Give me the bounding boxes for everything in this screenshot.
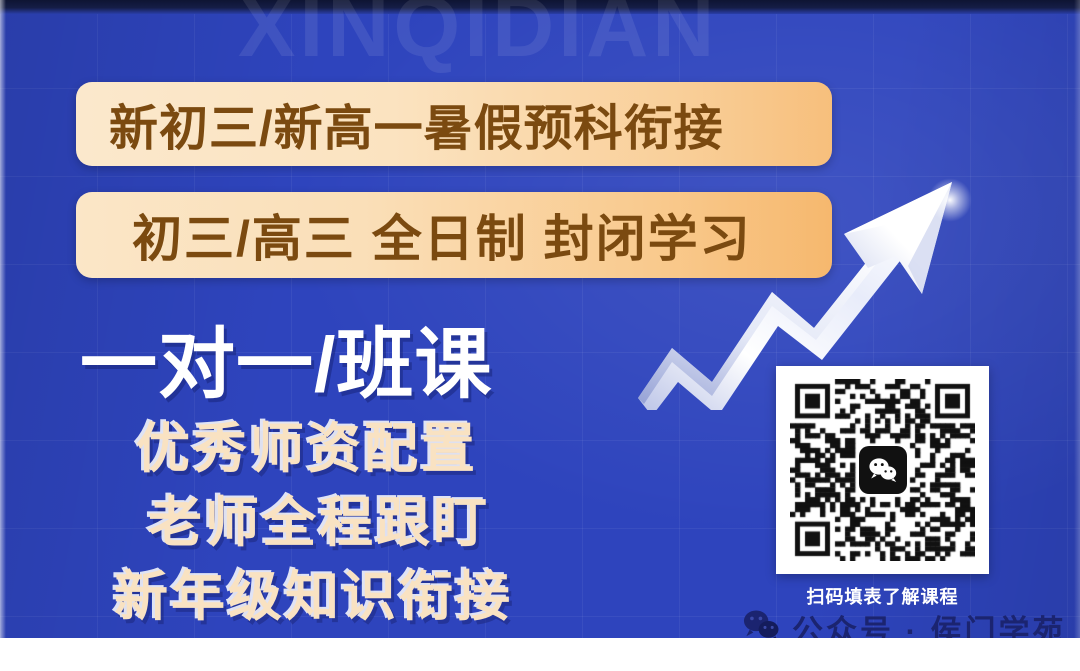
- banner-pill-primary: 新初三/新高一暑假预科衔接: [76, 82, 832, 166]
- top-edge-band: [0, 0, 1080, 14]
- bottom-white-strip: [0, 638, 1080, 671]
- left-page-edge: [0, 0, 6, 638]
- sparkle-icon: [928, 178, 972, 222]
- feature-line-3: 新年级知识衔接: [114, 552, 513, 631]
- banner-pill-primary-label: 新初三/新高一暑假预科衔接: [109, 89, 724, 160]
- right-page-edge: [1074, 0, 1080, 638]
- wechat-icon: [742, 609, 782, 638]
- qr-code-card[interactable]: [776, 366, 989, 574]
- banner-pill-secondary-label: 初三/高三 全日制 封闭学习: [132, 199, 752, 271]
- feature-line-2: 老师全程跟盯: [148, 478, 490, 557]
- wechat-account-bar: 公众号 · 侯门学苑: [742, 606, 1067, 638]
- promotional-poster: XINQIDIAN: [0, 0, 1080, 671]
- wechat-icon: [859, 446, 907, 494]
- banner-pill-secondary: 初三/高三 全日制 封闭学习: [76, 192, 832, 278]
- poster-headline: 一对一/班课: [80, 303, 492, 414]
- poster-canvas: XINQIDIAN: [0, 0, 1080, 638]
- feature-line-1: 优秀师资配置: [136, 404, 478, 483]
- wechat-account-label: 公众号 · 侯门学苑: [792, 606, 1067, 638]
